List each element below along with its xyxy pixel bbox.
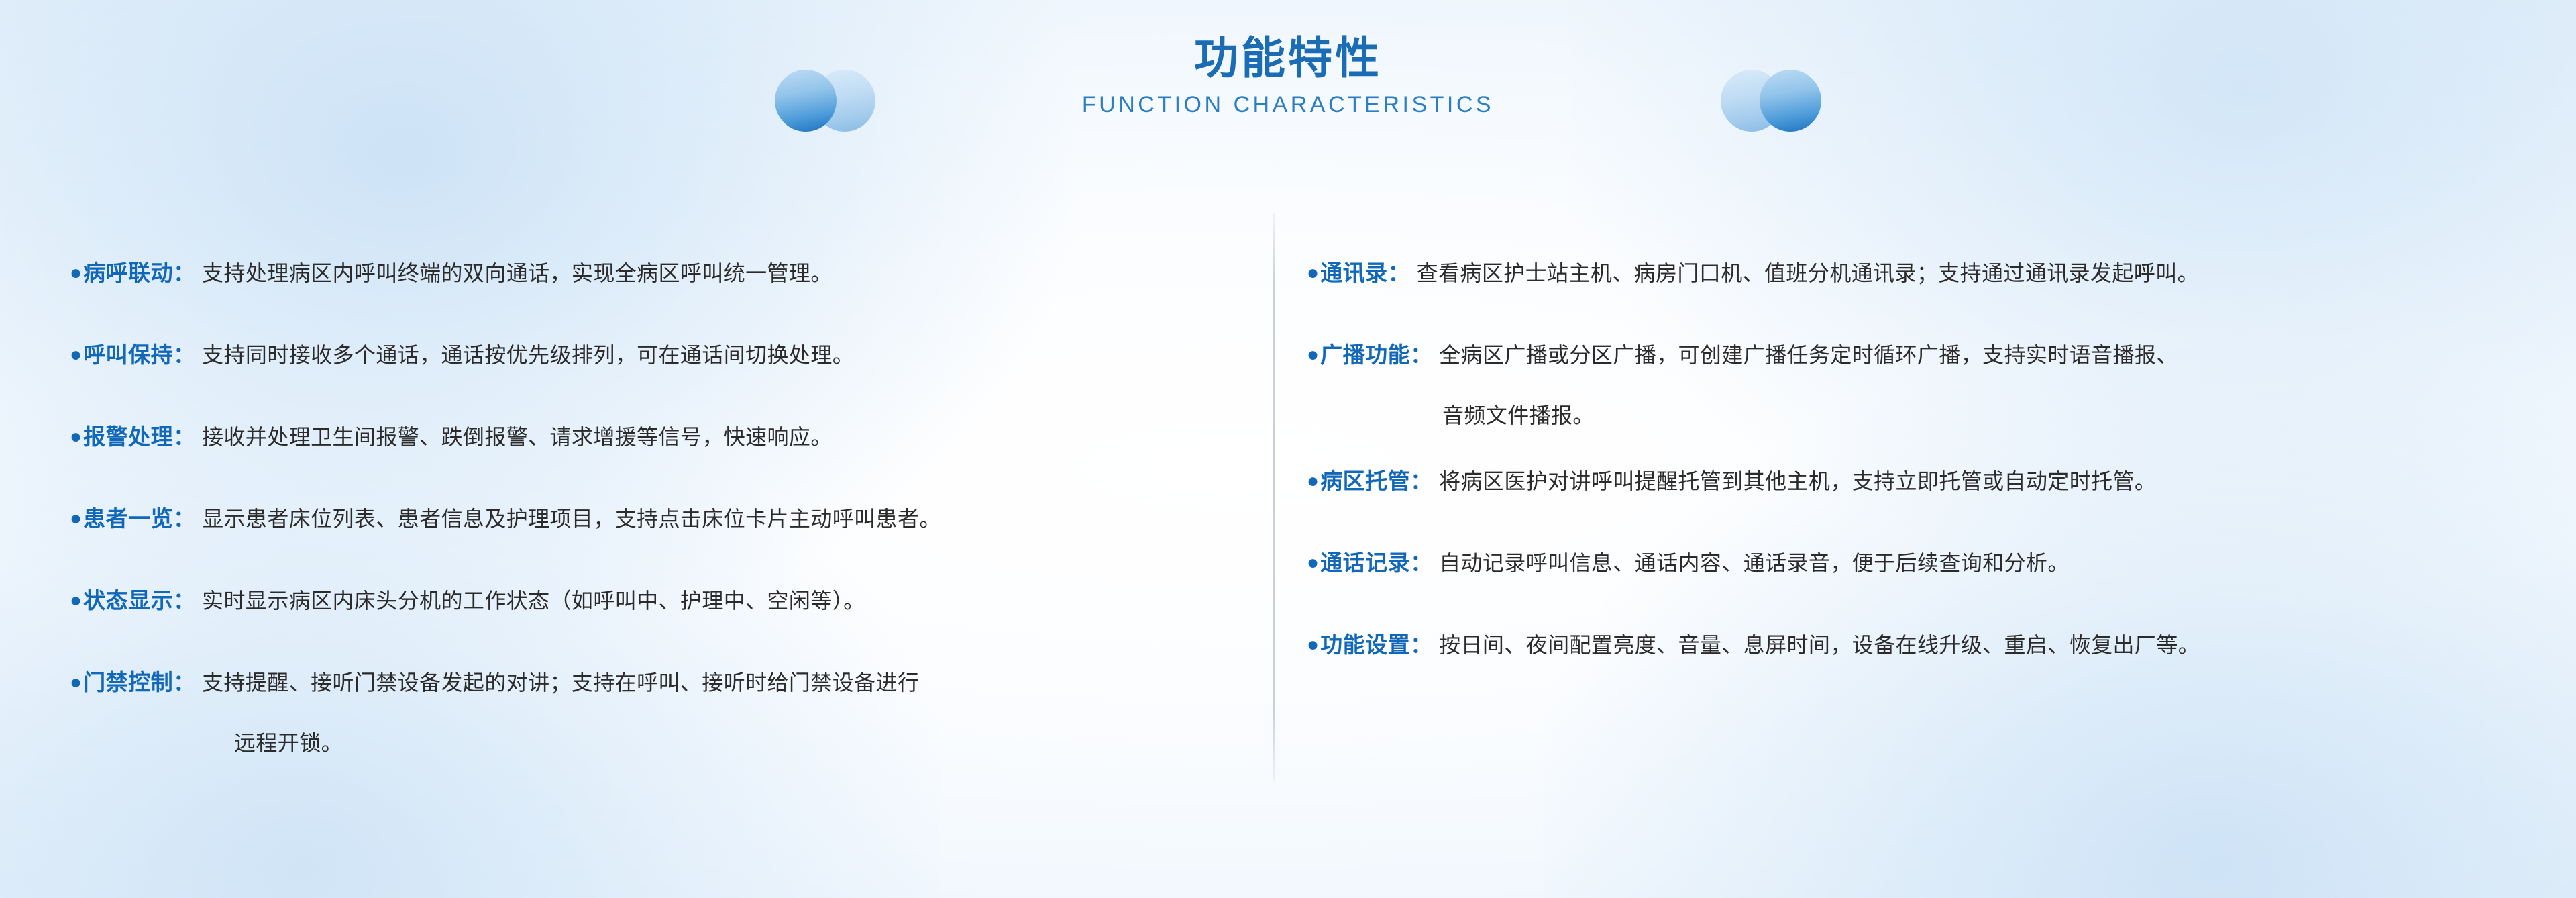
page-subtitle: FUNCTION CHARACTERISTICS — [0, 93, 2576, 116]
feature-description: 将病区医护对讲呼叫提醒托管到其他主机，支持立即托管或自动定时托管。 — [1439, 464, 2156, 495]
page-title: 功能特性 — [0, 35, 2576, 81]
feature-colon: ： — [1388, 255, 1410, 287]
feature-item: ●状态显示：实时显示病区内床头分机的工作状态（如呼叫中、护理中、空闲等）。 — [70, 583, 865, 615]
feature-description: 自动记录呼叫信息、通话内容、通话录音，便于后续查询和分析。 — [1439, 546, 2070, 577]
bullet-dot-icon: ● — [1307, 345, 1319, 365]
feature-description: 实时显示病区内床头分机的工作状态（如呼叫中、护理中、空闲等）。 — [202, 584, 865, 615]
bullet-dot-icon: ● — [1307, 263, 1319, 283]
slide-header: 功能特性 FUNCTION CHARACTERISTICS — [0, 0, 2576, 201]
feature-colon: ： — [1410, 545, 1432, 577]
feature-primary-line: ●功能设置：按日间、夜间配置亮度、音量、息屏时间，设备在线升级、重启、恢复出厂等… — [1307, 627, 2200, 659]
feature-primary-line: ●患者一览：显示患者床位列表、患者信息及护理项目，支持点击床位卡片主动呼叫患者。 — [70, 501, 941, 533]
feature-description-continued: 远程开锁。 — [234, 726, 919, 757]
bullet-dot-icon: ● — [70, 509, 82, 529]
feature-description: 支持提醒、接听门禁设备发起的对讲；支持在呼叫、接听时给门禁设备进行 — [202, 666, 919, 697]
feature-colon: ： — [173, 419, 195, 451]
bullet-dot-icon: ● — [1307, 635, 1319, 655]
feature-primary-line: ●通话记录：自动记录呼叫信息、通话内容、通话录音，便于后续查询和分析。 — [1307, 545, 2070, 577]
column-divider — [1273, 213, 1275, 781]
feature-item: ●病区托管：将病区医护对讲呼叫提醒托管到其他主机，支持立即托管或自动定时托管。 — [1307, 463, 2156, 495]
feature-primary-line: ●病呼联动：支持处理病区内呼叫终端的双向通话，实现全病区呼叫统一管理。 — [70, 255, 833, 287]
feature-label: 患者一览 — [83, 501, 173, 533]
feature-label: 病呼联动 — [83, 255, 173, 287]
feature-description: 接收并处理卫生间报警、跌倒报警、请求增援等信号，快速响应。 — [202, 420, 833, 451]
feature-primary-line: ●门禁控制：支持提醒、接听门禁设备发起的对讲；支持在呼叫、接听时给门禁设备进行 — [70, 664, 919, 697]
feature-label: 功能设置 — [1320, 627, 1410, 659]
feature-colon: ： — [173, 583, 195, 615]
bullet-dot-icon: ● — [70, 672, 82, 693]
feature-description: 按日间、夜间配置亮度、音量、息屏时间，设备在线升级、重启、恢复出厂等。 — [1439, 628, 2200, 659]
feature-colon: ： — [173, 337, 195, 369]
feature-description-continued: 音频文件播报。 — [1442, 399, 2178, 430]
feature-item: ●功能设置：按日间、夜间配置亮度、音量、息屏时间，设备在线升级、重启、恢复出厂等… — [1307, 627, 2200, 659]
feature-colon: ： — [173, 664, 195, 697]
slide-canvas: 功能特性 FUNCTION CHARACTERISTICS ●病呼联动：支持处理… — [0, 0, 2576, 898]
feature-item: ●广播功能：全病区广播或分区广播，可创建广播任务定时循环广播，支持实时语音播报、… — [1307, 337, 2178, 430]
title-block: 功能特性 FUNCTION CHARACTERISTICS — [0, 35, 2576, 116]
feature-description: 支持处理病区内呼叫终端的双向通话，实现全病区呼叫统一管理。 — [202, 256, 833, 287]
feature-colon: ： — [1410, 337, 1432, 369]
feature-label: 状态显示 — [83, 583, 173, 615]
feature-item: ●通讯录：查看病区护士站主机、病房门口机、值班分机通讯录；支持通过通讯录发起呼叫… — [1307, 255, 2199, 287]
feature-item: ●门禁控制：支持提醒、接听门禁设备发起的对讲；支持在呼叫、接听时给门禁设备进行远… — [70, 664, 919, 757]
feature-primary-line: ●呼叫保持：支持同时接收多个通话，通话按优先级排列，可在通话间切换处理。 — [70, 337, 854, 369]
bullet-dot-icon: ● — [70, 591, 82, 611]
feature-item: ●呼叫保持：支持同时接收多个通话，通话按优先级排列，可在通话间切换处理。 — [70, 337, 854, 369]
bullet-dot-icon: ● — [70, 427, 82, 447]
feature-label: 通话记录 — [1320, 545, 1410, 577]
feature-label: 广播功能 — [1320, 337, 1410, 369]
feature-primary-line: ●病区托管：将病区医护对讲呼叫提醒托管到其他主机，支持立即托管或自动定时托管。 — [1307, 463, 2156, 495]
feature-label: 报警处理 — [83, 419, 173, 451]
feature-item: ●病呼联动：支持处理病区内呼叫终端的双向通话，实现全病区呼叫统一管理。 — [70, 255, 833, 287]
feature-description: 显示患者床位列表、患者信息及护理项目，支持点击床位卡片主动呼叫患者。 — [202, 502, 941, 533]
feature-label: 呼叫保持 — [83, 337, 173, 369]
feature-colon: ： — [173, 255, 195, 287]
circle-icon — [1760, 70, 1821, 132]
bullet-dot-icon: ● — [70, 263, 82, 283]
feature-description: 全病区广播或分区广播，可创建广播任务定时循环广播，支持实时语音播报、 — [1439, 338, 2178, 369]
feature-primary-line: ●广播功能：全病区广播或分区广播，可创建广播任务定时循环广播，支持实时语音播报、 — [1307, 337, 2178, 369]
circle-icon — [775, 70, 837, 132]
feature-colon: ： — [1410, 627, 1432, 659]
feature-item: ●患者一览：显示患者床位列表、患者信息及护理项目，支持点击床位卡片主动呼叫患者。 — [70, 501, 941, 533]
feature-description: 查看病区护士站主机、病房门口机、值班分机通讯录；支持通过通讯录发起呼叫。 — [1417, 256, 2199, 287]
feature-colon: ： — [173, 501, 195, 533]
bullet-dot-icon: ● — [1307, 471, 1319, 491]
feature-description: 支持同时接收多个通话，通话按优先级排列，可在通话间切换处理。 — [202, 338, 854, 369]
feature-label: 通讯录 — [1320, 255, 1388, 287]
feature-colon: ： — [1410, 463, 1432, 495]
feature-content: ●病呼联动：支持处理病区内呼叫终端的双向通话，实现全病区呼叫统一管理。●呼叫保持… — [0, 201, 2576, 898]
feature-primary-line: ●状态显示：实时显示病区内床头分机的工作状态（如呼叫中、护理中、空闲等）。 — [70, 583, 865, 615]
feature-primary-line: ●报警处理：接收并处理卫生间报警、跌倒报警、请求增援等信号，快速响应。 — [70, 419, 833, 451]
bullet-dot-icon: ● — [1307, 553, 1319, 573]
feature-item: ●报警处理：接收并处理卫生间报警、跌倒报警、请求增援等信号，快速响应。 — [70, 419, 833, 451]
feature-label: 病区托管 — [1320, 463, 1410, 495]
feature-label: 门禁控制 — [83, 664, 173, 697]
bullet-dot-icon: ● — [70, 345, 82, 365]
feature-item: ●通话记录：自动记录呼叫信息、通话内容、通话录音，便于后续查询和分析。 — [1307, 545, 2070, 577]
feature-primary-line: ●通讯录：查看病区护士站主机、病房门口机、值班分机通讯录；支持通过通讯录发起呼叫… — [1307, 255, 2199, 287]
